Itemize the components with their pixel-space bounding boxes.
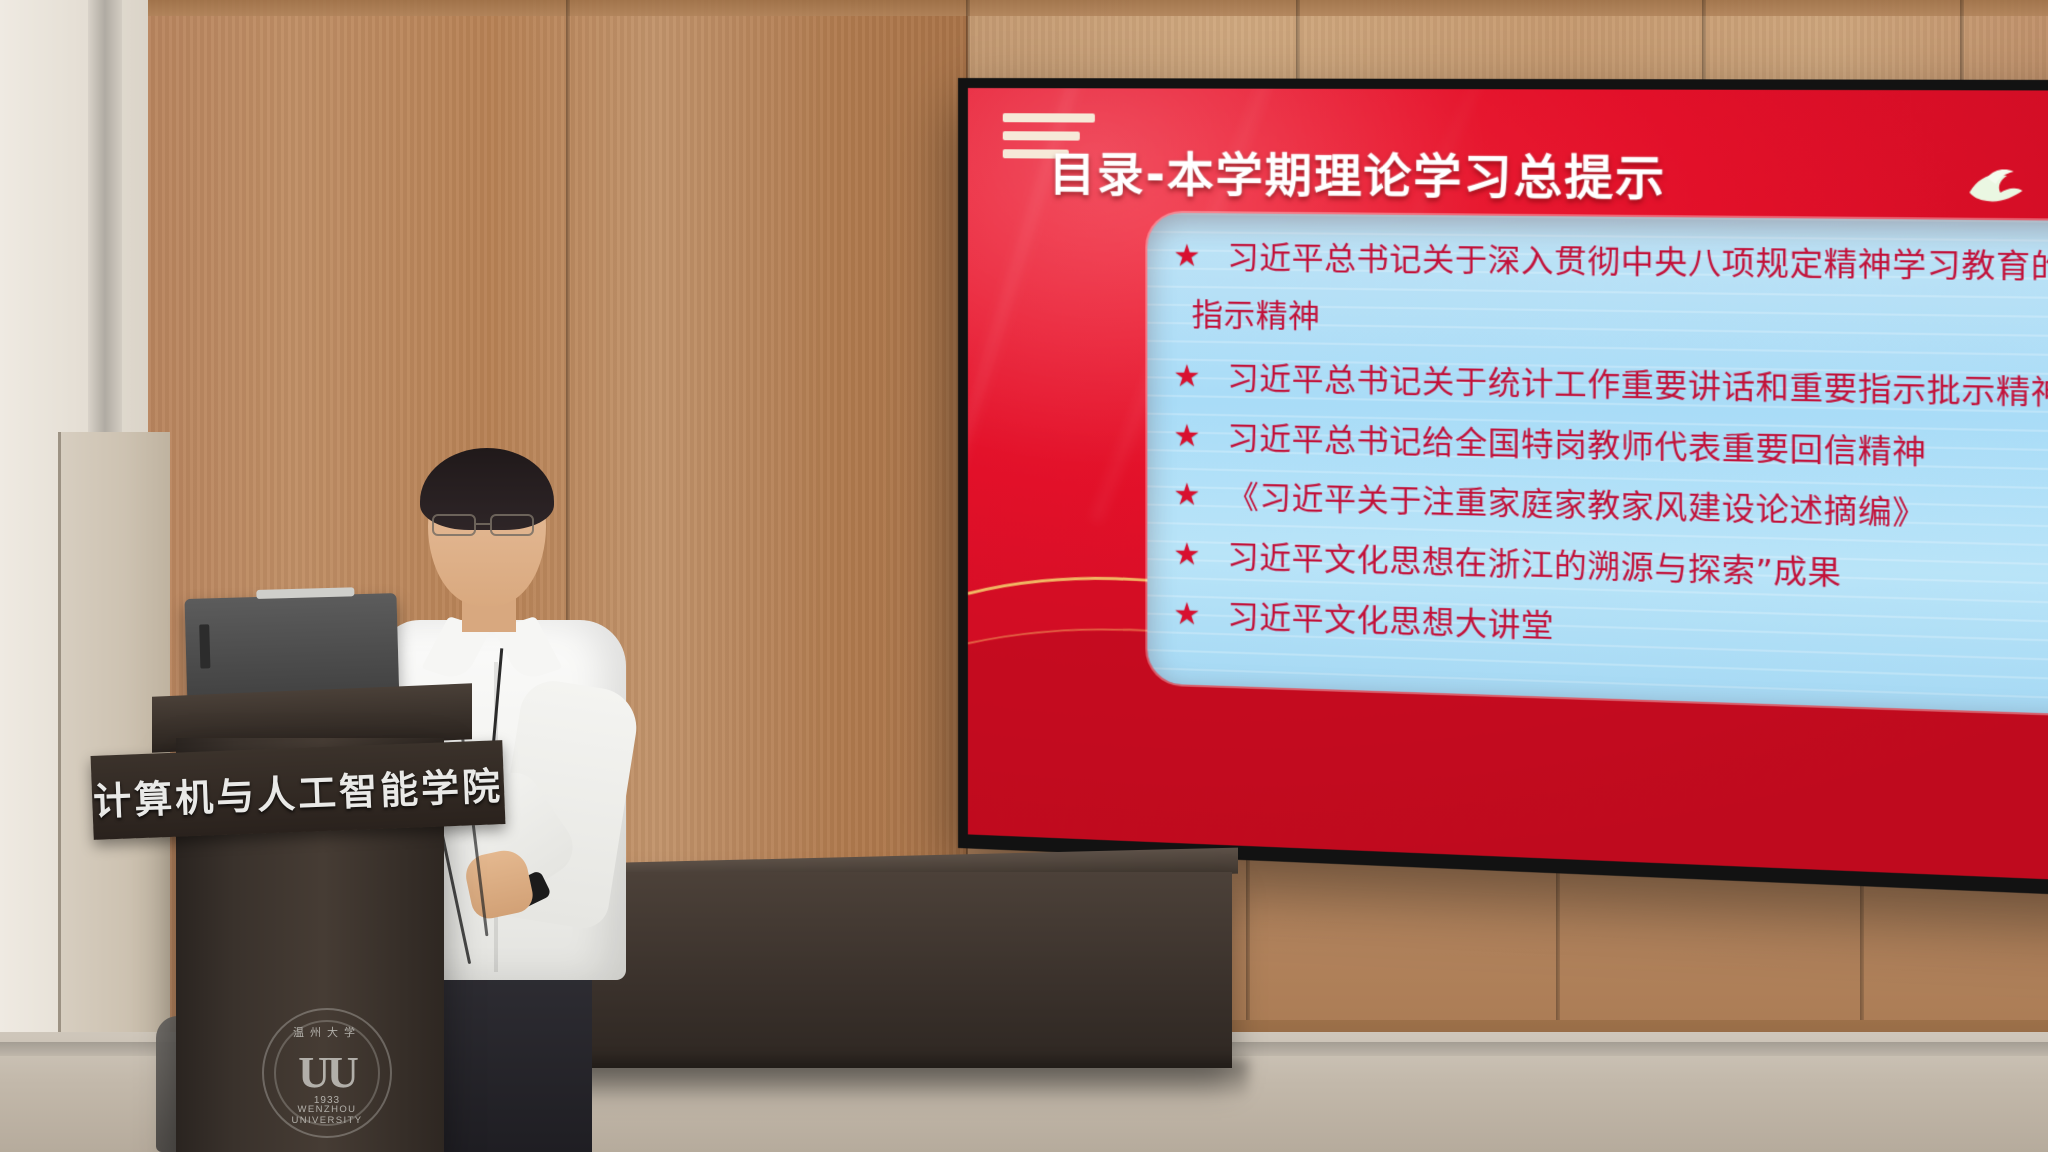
list-item: ★ 习近平总书记关于统计工作重要讲话和重要指示批示精神	[1147, 359, 2048, 415]
star-bullet-icon: ★	[1173, 419, 1200, 454]
list-item-text: 习近平总书记关于统计工作重要讲话和重要指示批示精神	[1227, 361, 2048, 413]
podium-sign-text: 计算机与人工智能学院	[92, 755, 504, 826]
slide: 目录-本学期理论学习总提示 ★ 习近平总书记关于深入贯彻中央八项规定精神学习教育…	[968, 88, 2048, 882]
slide-content-panel: ★ 习近平总书记关于深入贯彻中央八项规定精神学习教育的重要 指示精神 ★ 习近平…	[1147, 213, 2048, 719]
list-item-text: 习近平总书记关于深入贯彻中央八项规定精神学习教育的重要	[1227, 240, 2048, 288]
list-item: ★ 习近平总书记给全国特岗教师代表重要回信精神	[1147, 418, 2048, 478]
list-item-text: 指示精神	[1192, 297, 1321, 336]
table-shadow	[548, 1060, 1248, 1100]
conference-table	[548, 872, 1232, 1068]
podium-sign: 计算机与人工智能学院	[91, 740, 506, 840]
list-item: ★ 习近平总书记关于深入贯彻中央八项规定精神学习教育的重要	[1147, 239, 2048, 289]
laptop-lid-lip	[256, 587, 354, 599]
star-bullet-icon: ★	[1173, 360, 1200, 395]
star-bullet-icon: ★	[1173, 478, 1200, 514]
list-item: ★ 习近平文化思想在浙江的溯源与探索”成果	[1147, 537, 2048, 603]
university-logo: 温州大学 UU 1933 WENZHOU UNIVERSITY	[262, 1008, 392, 1138]
lecture-hall-scene: 目录-本学期理论学习总提示 ★ 习近平总书记关于深入贯彻中央八项规定精神学习教育…	[0, 0, 2048, 1152]
star-bullet-icon: ★	[1173, 537, 1200, 573]
list-item: ★ 《习近平关于注重家庭家教家风建设论述摘编》	[1147, 478, 2048, 541]
star-bullet-icon: ★	[1173, 597, 1200, 633]
star-bullet-icon: ★	[1173, 239, 1200, 274]
eyeglasses	[428, 514, 548, 536]
list-item-text: 习近平总书记给全国特岗教师代表重要回信精神	[1227, 420, 1927, 472]
list-item-text: 习近平文化思想大讲堂	[1227, 598, 1554, 645]
list-item-text: 习近平文化思想在浙江的溯源与探索”成果	[1227, 539, 1841, 593]
presentation-screen[interactable]: 目录-本学期理论学习总提示 ★ 习近平总书记关于深入贯彻中央八项规定精神学习教育…	[958, 78, 2048, 897]
logo-en-name: WENZHOU UNIVERSITY	[264, 1104, 390, 1126]
ceiling-trim	[148, 0, 2048, 16]
slide-title: 目录-本学期理论学习总提示	[1049, 138, 1666, 209]
laptop-hinge	[199, 624, 210, 668]
list-item: ★ 习近平文化思想大讲堂	[1147, 596, 2048, 666]
list-item-text: 《习近平关于注重家庭家教家风建设论述摘编》	[1227, 479, 1927, 533]
logo-cn-name: 温州大学	[264, 1024, 390, 1040]
list-item: 指示精神	[1147, 296, 2048, 349]
